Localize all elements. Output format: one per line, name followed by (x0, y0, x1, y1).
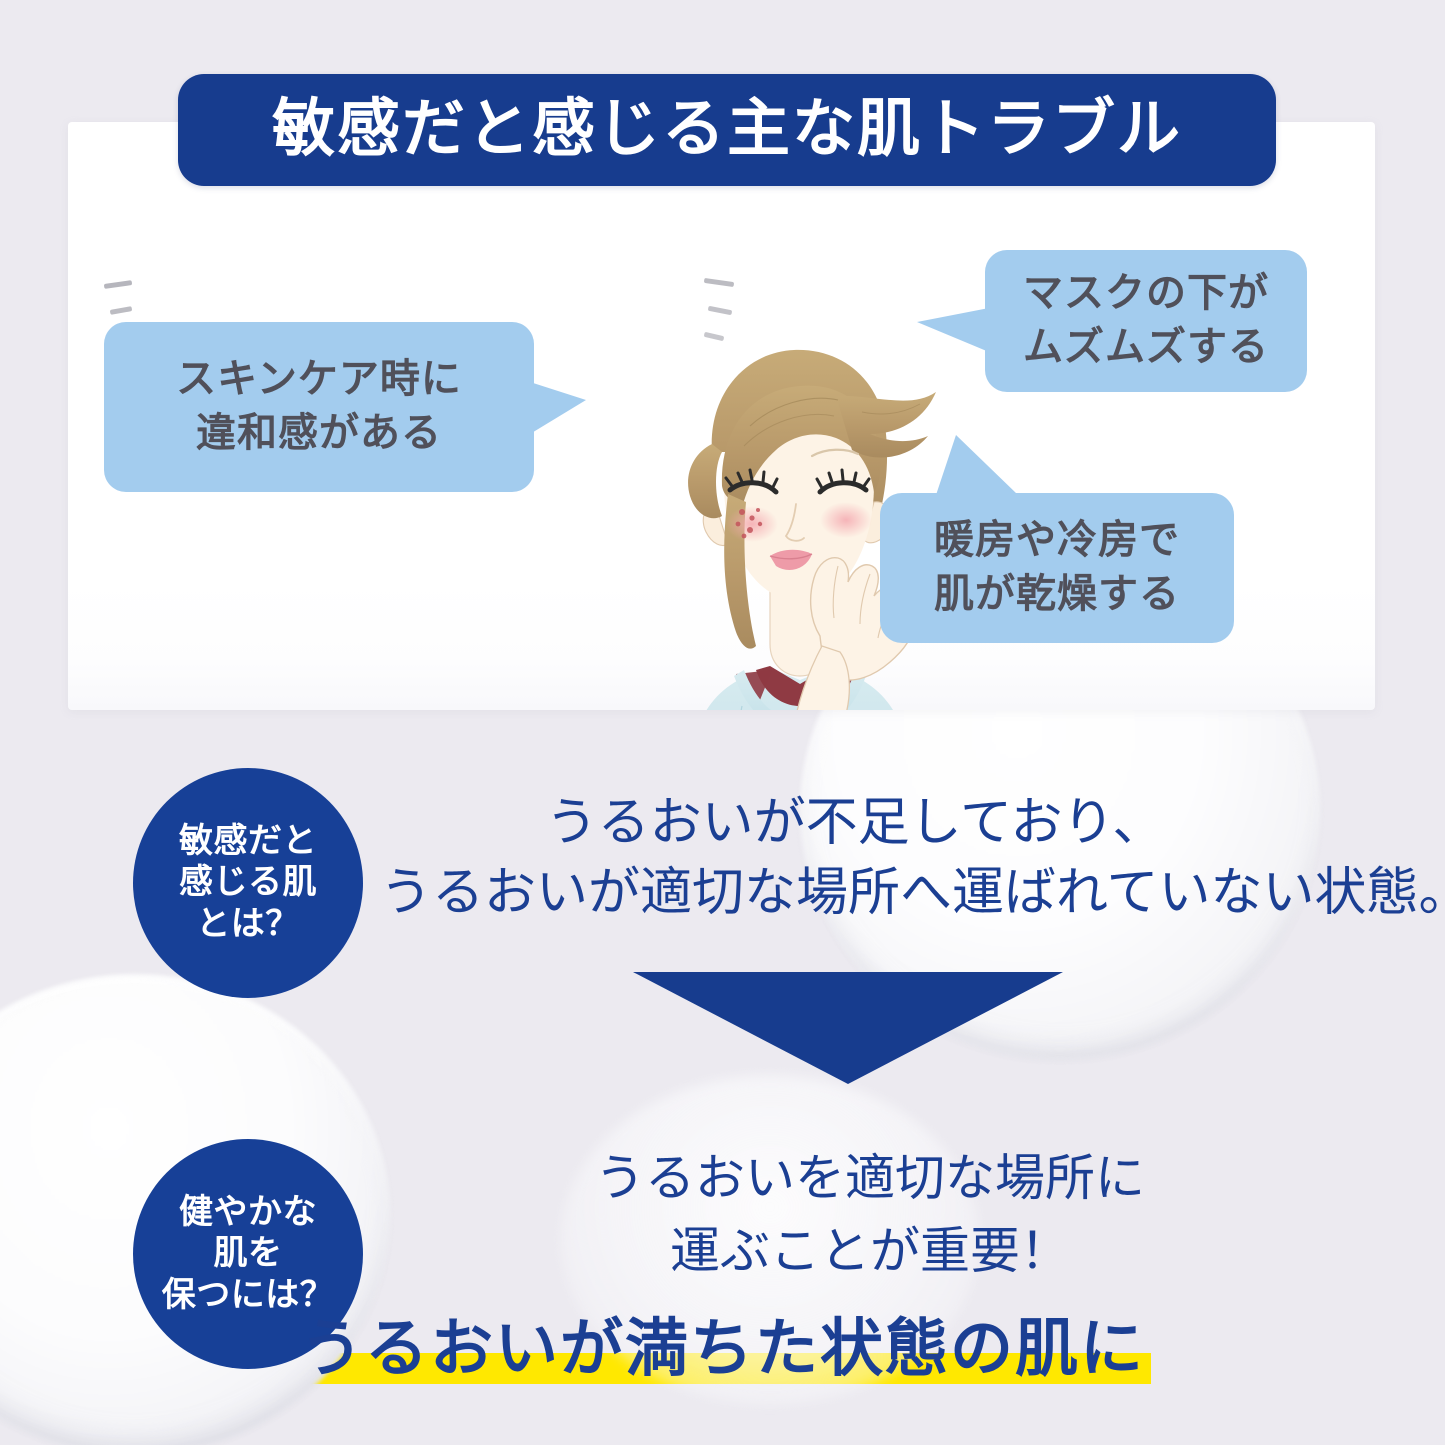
headline-row: うるおいが満ちた状態の肌に (0, 1316, 1445, 1382)
page-title-banner: 敏感だと感じる主な肌トラブル (178, 74, 1276, 186)
paragraph-line: うるおいが不足しており、 (380, 788, 1330, 858)
badge-line: 肌を (214, 1233, 283, 1274)
down-arrow-icon (633, 972, 1063, 1084)
bubble-tail (936, 435, 1018, 495)
bubble-line: 暖房や冷房で (934, 514, 1180, 568)
motion-tick (708, 306, 733, 315)
motion-tick (110, 306, 133, 315)
bubble-line: 違和感がある (196, 407, 442, 461)
headline-highlight: うるおいが満ちた状態の肌に (294, 1316, 1151, 1382)
badge-line: 健やかな (179, 1192, 317, 1233)
motion-tick (104, 280, 132, 289)
paragraph-line: うるおいが適切な場所へ運ばれていない状態。 (380, 858, 1330, 928)
bubble-line: マスクの下が (1023, 267, 1269, 321)
badge-line: 敏感だと (179, 821, 317, 862)
paragraph-sensitive-skin-answer: うるおいが不足しており、 うるおいが適切な場所へ運ばれていない状態。 (380, 788, 1330, 928)
motion-tick (704, 278, 734, 287)
badge-line: 保つには？ (162, 1275, 335, 1316)
bubble-tail (530, 382, 586, 434)
bubble-line: スキンケア時に (176, 353, 462, 407)
badge-sensitive-skin-question: 敏感だと 感じる肌 とは？ (133, 768, 363, 998)
infographic-root: 敏感だと感じる主な肌トラブル スキンケア時に 違和感がある マスクの下が ムズム… (0, 0, 1445, 1445)
bubble-line: ムズムズする (1023, 321, 1269, 375)
badge-line: とは？ (196, 904, 300, 945)
page-title: 敏感だと感じる主な肌トラブル (272, 98, 1182, 161)
speech-bubble-aircon-dryness: 暖房や冷房で 肌が乾燥する (880, 493, 1234, 643)
paragraph-line: 運ぶことが重要！ (530, 1215, 1210, 1288)
paragraph-line: うるおいを適切な場所に (530, 1142, 1210, 1215)
speech-bubble-mask-itch: マスクの下が ムズムズする (985, 250, 1307, 392)
speech-bubble-skincare-discomfort: スキンケア時に 違和感がある (104, 322, 534, 492)
badge-line: 感じる肌 (179, 862, 317, 903)
bubble-tail (917, 308, 989, 352)
headline-text: うるおいが満ちた状態の肌に (300, 1314, 1145, 1384)
paragraph-healthy-skin-answer: うるおいを適切な場所に 運ぶことが重要！ (530, 1142, 1210, 1288)
bubble-line: 肌が乾燥する (934, 568, 1180, 622)
